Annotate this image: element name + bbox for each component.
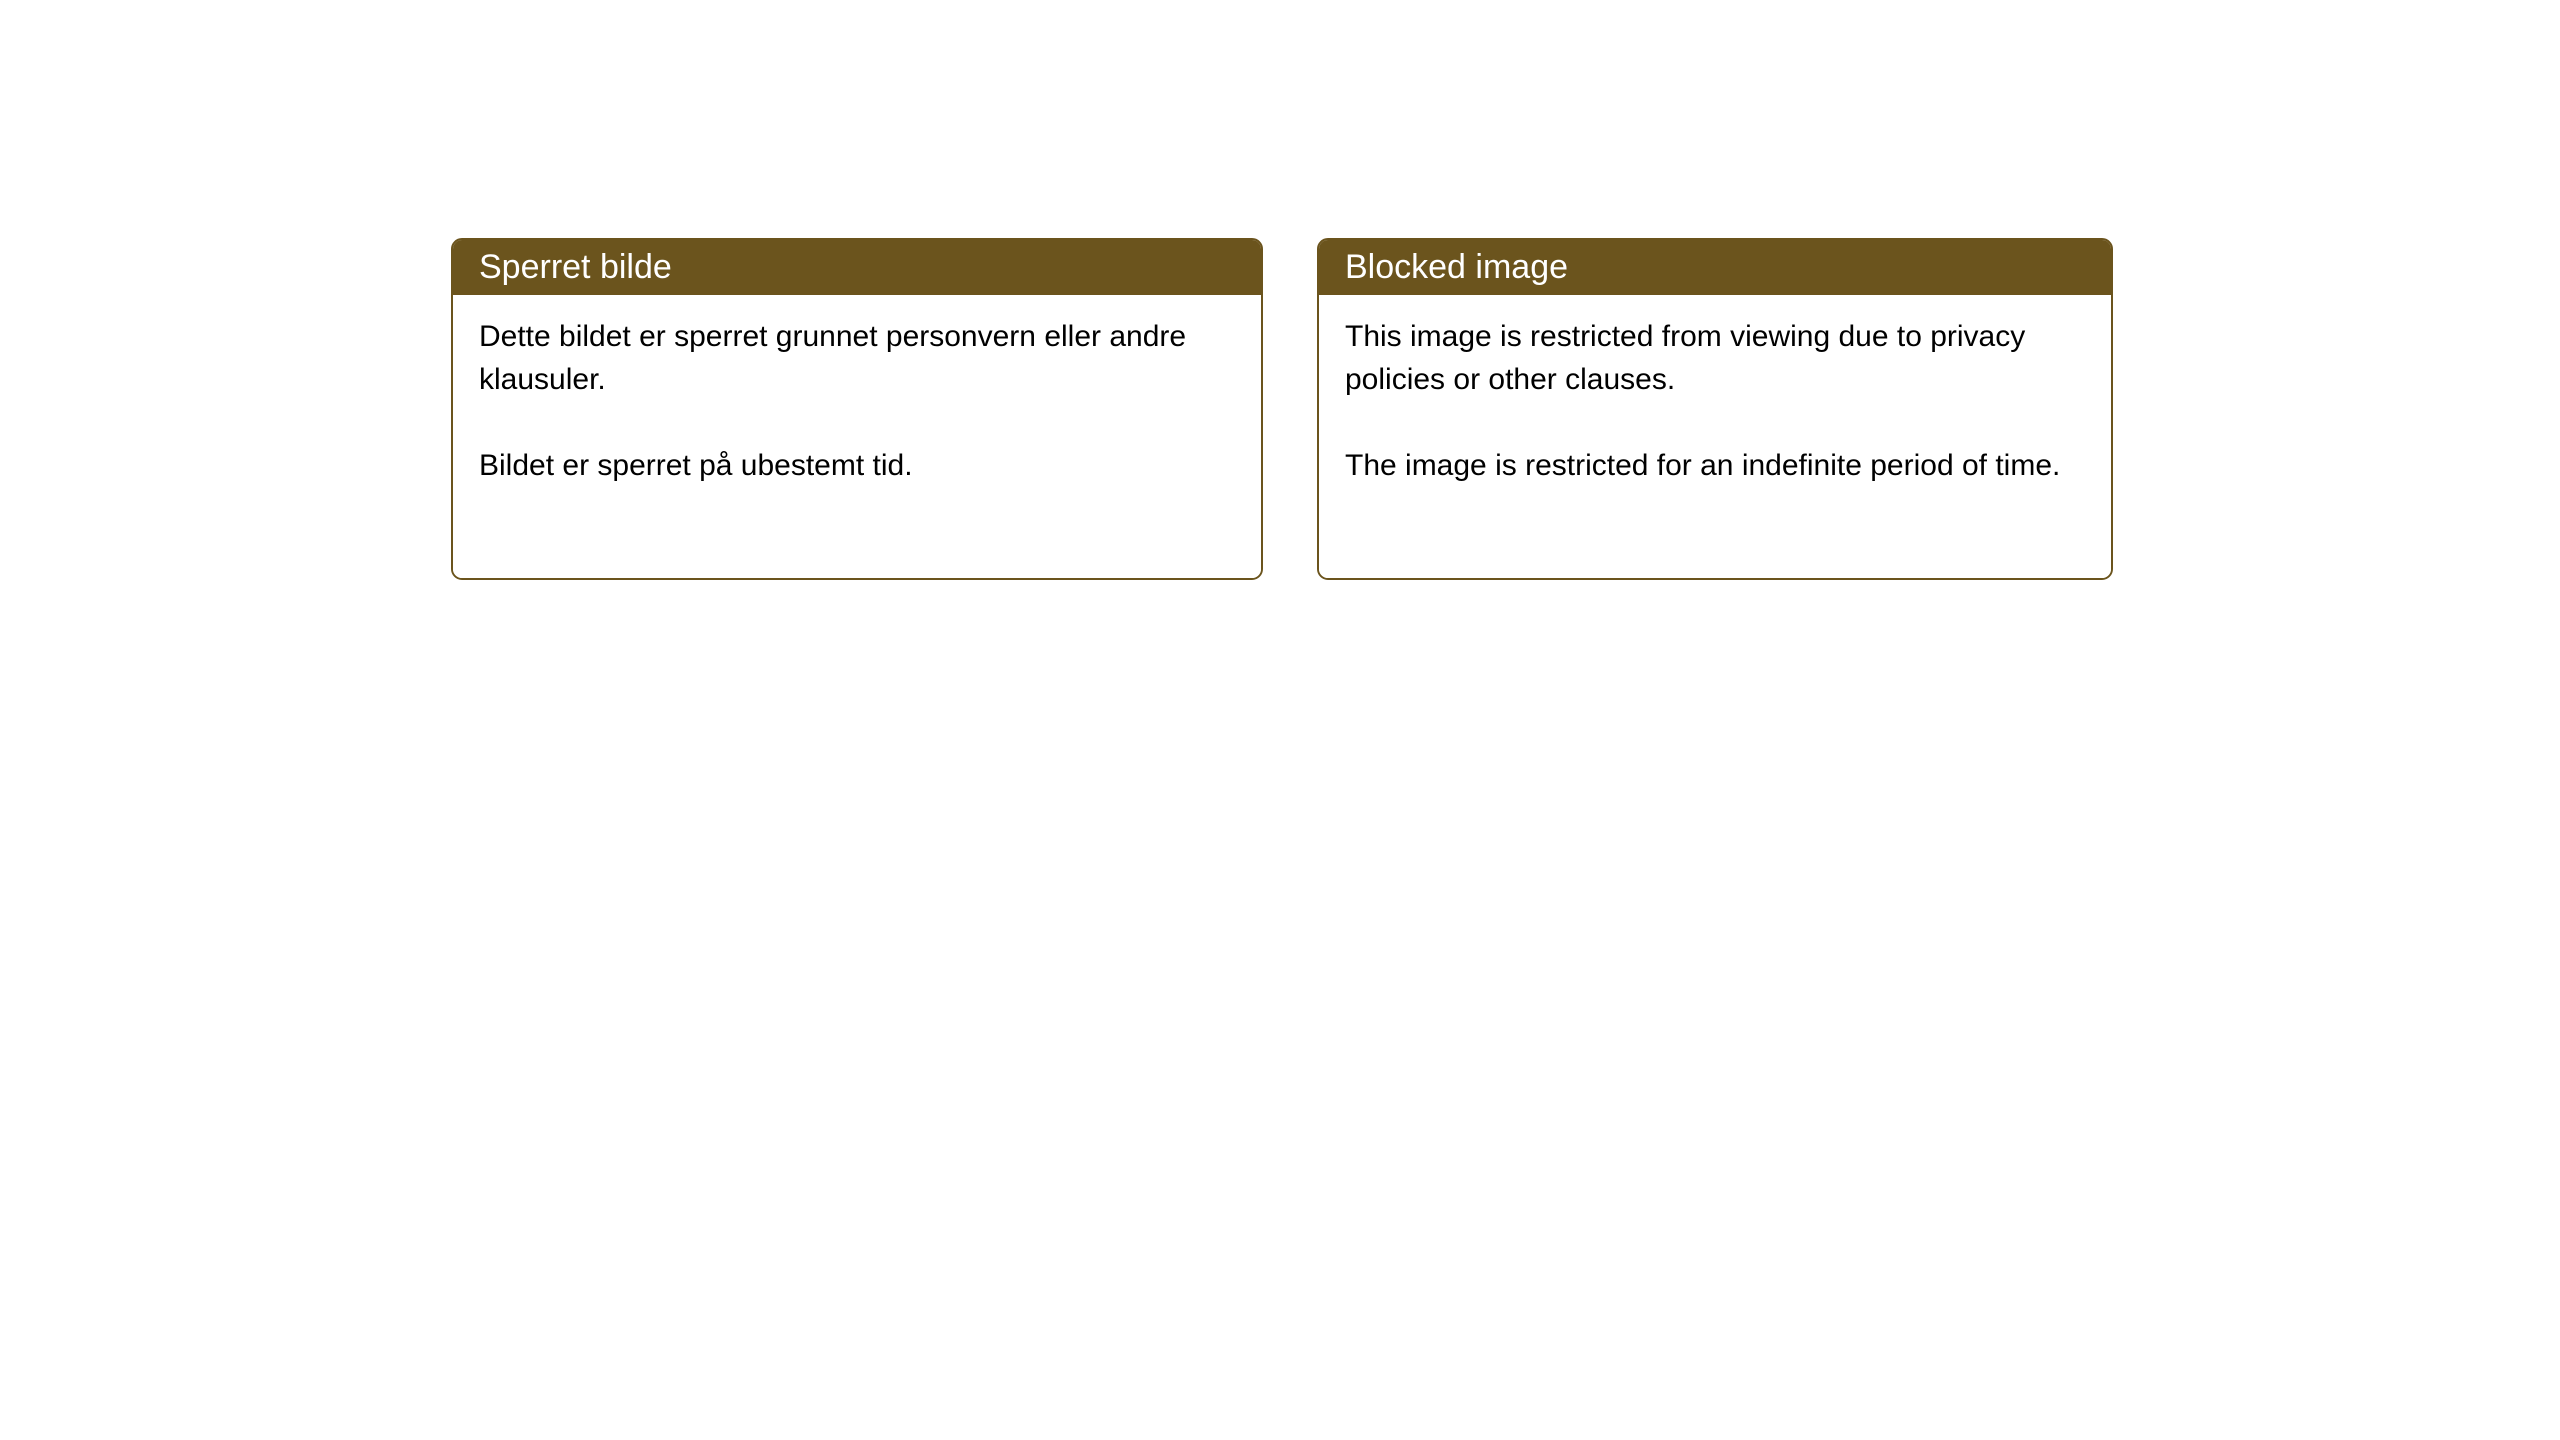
notice-paragraph-duration-norwegian: Bildet er sperret på ubestemt tid. bbox=[479, 444, 1239, 487]
notice-paragraph-reason-norwegian: Dette bildet er sperret grunnet personve… bbox=[479, 315, 1239, 401]
page-canvas: Sperret bilde Dette bildet er sperret gr… bbox=[0, 0, 2560, 1440]
notice-paragraph-duration-english: The image is restricted for an indefinit… bbox=[1345, 444, 2089, 487]
notice-title-english: Blocked image bbox=[1345, 248, 1568, 286]
notice-body-english: This image is restricted from viewing du… bbox=[1319, 295, 2111, 578]
blocked-image-notice-card-norwegian: Sperret bilde Dette bildet er sperret gr… bbox=[451, 238, 1263, 580]
notice-header-bar-norwegian: Sperret bilde bbox=[451, 238, 1263, 295]
notice-header-bar-english: Blocked image bbox=[1317, 238, 2113, 295]
blocked-image-notice-card-english: Blocked image This image is restricted f… bbox=[1317, 238, 2113, 580]
blocked-image-notice-group: Sperret bilde Dette bildet er sperret gr… bbox=[451, 238, 2113, 580]
notice-title-norwegian: Sperret bilde bbox=[479, 248, 672, 286]
notice-body-norwegian: Dette bildet er sperret grunnet personve… bbox=[453, 295, 1261, 578]
notice-paragraph-reason-english: This image is restricted from viewing du… bbox=[1345, 315, 2089, 401]
